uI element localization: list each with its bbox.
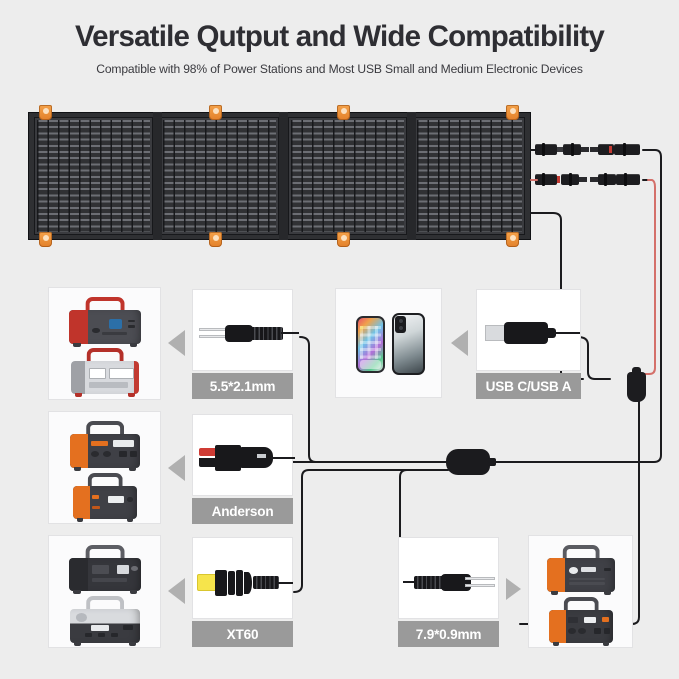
connector-label-dc5521: 5.5*2.1mm [192,373,293,399]
panel-grommet [506,105,519,120]
device-card-smartphones [335,288,442,398]
connector-label-anderson: Anderson [192,498,293,524]
mc4-connector-male-2 [535,173,589,186]
mc4-connector-female-2 [590,173,643,186]
connector-label-dc7909: 7.9*0.9mm [398,621,499,647]
flow-arrow-left-usb [451,330,468,356]
connector-card-dc5521 [192,289,293,371]
mc4-connector-male-1 [535,143,589,156]
solar-panel-section-4 [414,117,525,235]
panel-grommet [337,232,350,247]
flow-arrow-left-3 [168,578,185,604]
solar-cell-grid [163,120,276,232]
power-station-orange-3 [547,545,615,592]
panel-grommet [337,105,350,120]
connector-card-dc7909 [398,537,499,619]
camera-module-icon [395,316,406,333]
panel-hinge [153,112,162,240]
solar-cell-grid [291,120,404,232]
connector-card-anderson [192,414,293,496]
phone-iphone [356,316,385,373]
connector-card-usb [476,289,581,371]
page-subtitle: Compatible with 98% of Power Stations an… [0,62,679,76]
flow-arrow-left-2 [168,455,185,481]
dc-barrel-plug-7909 [403,573,497,591]
infographic-root: Versatile Qutput and Wide Compatibility … [0,0,679,679]
solar-panel-section-2 [160,117,279,235]
phone-galaxy [392,313,425,375]
device-card-power-stations-orange-2 [528,535,633,648]
power-station-orange-4 [549,597,613,643]
power-station-bw-2 [70,596,140,643]
mc4-connector-female-1 [590,143,643,156]
connector-label-xt60: XT60 [192,621,293,647]
power-station-bw-1 [69,545,141,591]
device-card-power-stations-bw [48,535,161,648]
usb-ac-plug [485,322,577,344]
inline-dc-connector [627,372,646,402]
panel-hinge [407,112,416,240]
panel-grommet [506,232,519,247]
solar-panel [28,112,531,240]
panel-grommet [209,232,222,247]
solar-panel-section-3 [288,117,407,235]
connector-card-xt60 [192,537,293,619]
flow-arrow-left-1 [168,330,185,356]
dc-barrel-plug-5521 [199,324,291,342]
panel-grommet [39,105,52,120]
xt60-plug [197,570,291,596]
power-station-orange-2 [73,473,137,519]
anderson-powerpole-plug [199,445,291,471]
solar-cell-grid [37,120,150,232]
device-card-power-stations-red [48,287,161,400]
flow-arrow-right-1 [506,578,521,600]
panel-hinge [279,112,288,240]
power-station-red-1 [69,297,141,344]
solar-panel-section-1 [34,117,153,235]
panel-grommet [39,232,52,247]
connector-label-usb: USB C/USB A [476,373,581,399]
power-station-orange-1 [70,421,140,468]
page-title: Versatile Qutput and Wide Compatibility [0,20,679,54]
panel-grommet [209,105,222,120]
device-card-power-stations-orange [48,411,161,524]
cable-splitter-hub [446,449,490,475]
power-station-red-2 [71,348,139,394]
solar-cell-grid [417,120,522,232]
